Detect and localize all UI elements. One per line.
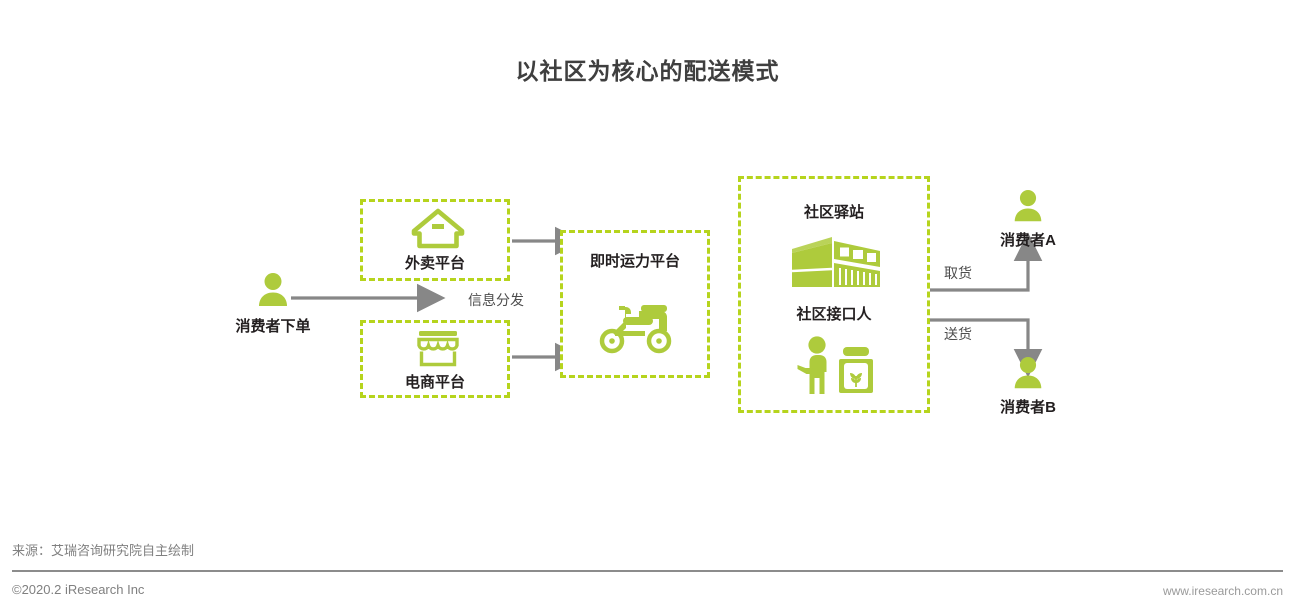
instant-capacity-platform-label: 即时运力平台: [563, 250, 707, 271]
ecommerce-platform-box[interactable]: 电商平台: [360, 320, 510, 398]
person-icon: [253, 272, 293, 312]
community-contact-label: 社区接口人: [741, 303, 927, 324]
copyright-note: ©2020.2 iResearch Inc: [12, 582, 144, 597]
info-distribution-label: 信息分发: [468, 290, 524, 310]
instant-capacity-platform-box[interactable]: 即时运力平台: [560, 230, 710, 378]
house-icon: [411, 208, 465, 250]
storefront-icon: [414, 329, 462, 369]
community-station-label: 社区驿站: [741, 201, 927, 222]
warehouse-building-icon: [786, 229, 886, 295]
website-url: www.iresearch.com.cn: [1163, 584, 1283, 598]
person-icon: [1009, 189, 1047, 227]
consumer-a-label: 消费者A: [958, 229, 1098, 250]
pickup-label: 取货: [944, 263, 972, 283]
delivery-label: 送货: [944, 324, 972, 344]
source-note: 来源：艾瑞咨询研究院自主绘制: [12, 540, 194, 559]
person-with-bag-icon: [793, 335, 881, 397]
consumer-b-label: 消费者B: [958, 396, 1098, 417]
slide-canvas: 以社区为核心的配送模式 消费者下单 外卖平台: [0, 0, 1295, 607]
person-icon: [1009, 356, 1047, 394]
scooter-icon: [595, 297, 679, 359]
takeout-platform-label: 外卖平台: [363, 252, 507, 273]
community-box[interactable]: 社区驿站: [738, 176, 930, 413]
footer-divider: [12, 570, 1283, 572]
ecommerce-platform-label: 电商平台: [363, 371, 507, 392]
consumer-order-label: 消费者下单: [203, 315, 343, 336]
takeout-platform-box[interactable]: 外卖平台: [360, 199, 510, 281]
